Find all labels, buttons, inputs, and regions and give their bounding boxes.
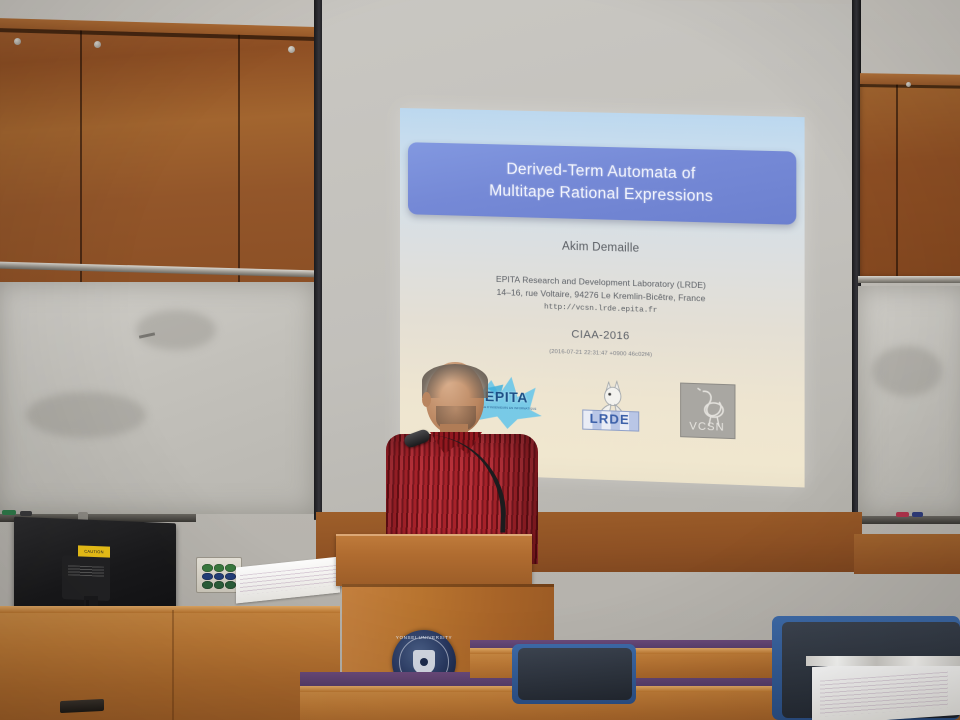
lrde-logo-label: LRDE	[582, 409, 637, 429]
counter-edge-left	[0, 606, 340, 613]
cabinet-knob[interactable]	[906, 82, 911, 87]
cabinet-knob[interactable]	[14, 38, 21, 45]
cabinet-rail-right	[858, 276, 960, 283]
slide-conference: CIAA-2016	[400, 323, 805, 348]
slide-author: Akim Demaille	[400, 236, 805, 260]
whiteboard-smudge	[26, 392, 146, 438]
desk-object-dark[interactable]	[60, 699, 104, 713]
paper-edge-highlight	[806, 656, 960, 666]
podium-edge	[342, 584, 554, 587]
whiteboard-smudge	[872, 346, 942, 396]
paper-stack-right[interactable]	[812, 657, 960, 720]
whiteboard-left	[0, 282, 316, 514]
whiteboard-smudge	[136, 310, 216, 350]
wall-wood-band-right	[854, 534, 960, 574]
project-url: http://vcsn.lrde.epita.fr	[544, 304, 657, 316]
keypad-button[interactable]	[225, 564, 236, 572]
keypad-button[interactable]	[202, 564, 213, 572]
seal-shield-icon	[413, 650, 435, 674]
vcsn-logo: VCSN	[680, 381, 733, 440]
presenter-hair	[422, 364, 488, 398]
slide-title-line-2: Multitape Rational Expressions	[489, 180, 713, 208]
keypad-button[interactable]	[214, 564, 225, 572]
keypad-button[interactable]	[202, 581, 213, 589]
cabinet-seam	[80, 30, 82, 302]
monitor-housing	[62, 555, 110, 601]
lecture-hall-photo: Derived-Term Automata of Multitape Ratio…	[0, 0, 960, 720]
lrde-logo: LRDE	[580, 377, 643, 436]
podium-top	[336, 534, 532, 586]
keypad-button[interactable]	[225, 581, 236, 589]
marker-red[interactable]	[896, 512, 909, 517]
slide-title-bar: Derived-Term Automata of Multitape Ratio…	[408, 142, 796, 225]
counter-front-left	[0, 610, 340, 720]
marker-black[interactable]	[20, 511, 32, 516]
marker-blue[interactable]	[912, 512, 923, 517]
keypad-button[interactable]	[225, 573, 236, 581]
chair-cushion-left	[518, 648, 632, 700]
whiteboard-tray-right	[858, 516, 960, 524]
counter-seam	[172, 610, 174, 720]
marker-green[interactable]	[2, 510, 16, 515]
monitor-spec-label	[68, 565, 104, 577]
keypad-button[interactable]	[202, 573, 213, 581]
slide-build-stamp: (2016-07-21 22:31:47 +0900 46c02f4)	[400, 344, 805, 363]
paper-lines	[240, 565, 336, 595]
whiteboard-right	[858, 286, 960, 518]
cabinet-seam	[238, 35, 240, 307]
paper-lines	[820, 672, 948, 717]
cabinet-knob[interactable]	[288, 46, 295, 53]
cabinet-seam	[896, 85, 898, 281]
cabinet-knob[interactable]	[94, 41, 101, 48]
seal-label: YONSEI UNIVERSITY	[392, 635, 456, 640]
upper-cabinet-right[interactable]	[860, 84, 960, 282]
slide-affiliation: EPITA Research and Development Laborator…	[400, 270, 805, 322]
vcsn-ostrich-icon: VCSN	[680, 383, 733, 438]
keypad-button[interactable]	[214, 573, 225, 581]
monitor-warning-sticker: CAUTION	[78, 545, 110, 557]
presenter-ear	[422, 392, 431, 407]
svg-text:VCSN: VCSN	[689, 420, 724, 433]
keypad-button[interactable]	[214, 581, 225, 589]
